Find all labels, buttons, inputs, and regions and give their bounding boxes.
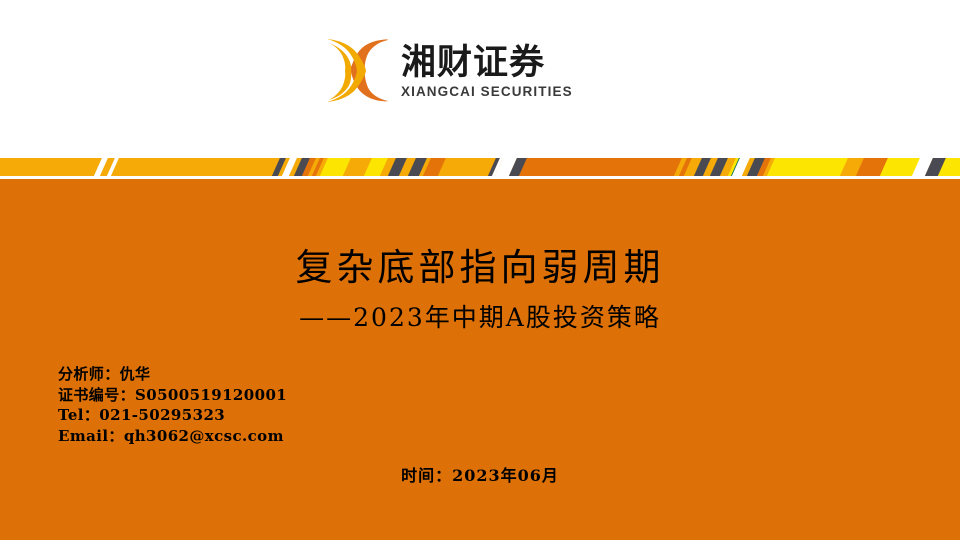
report-title: 复杂底部指向弱周期	[0, 237, 960, 291]
band-stripe	[107, 158, 283, 176]
analyst-telephone: Tel：021-50295323	[58, 405, 287, 426]
analyst-info-block: 分析师：仇华 证书编号：S0500519120001 Tel：021-50295…	[58, 364, 287, 446]
band-stripe	[0, 158, 105, 176]
header-area: 湘财证券 XIANGCAI SECURITIES	[0, 0, 960, 158]
company-name-cn: 湘财证券	[401, 45, 573, 82]
analyst-name: 分析师：仇华	[58, 364, 287, 385]
band-stripe	[514, 158, 685, 176]
analyst-email: Email：qh3062@xcsc.com	[58, 426, 287, 447]
report-subtitle: ——2023年中期A股投资策略	[0, 298, 960, 334]
company-name-en: XIANGCAI SECURITIES	[401, 84, 573, 99]
analyst-license-number: 证书编号：S0500519120001	[58, 385, 287, 406]
logo-wordmark: 湘财证券 XIANGCAI SECURITIES	[401, 43, 573, 100]
xiangcai-x-mark-icon	[327, 38, 389, 104]
stripe-container	[0, 158, 960, 176]
report-cover-slide: 湘财证券 XIANGCAI SECURITIES 复杂底部指向弱周期 ——202…	[0, 0, 960, 540]
decorative-stripe-band	[0, 158, 960, 176]
company-logo: 湘财证券 XIANGCAI SECURITIES	[327, 38, 573, 104]
report-date: 时间：2023年06月	[0, 462, 960, 486]
cover-body-panel: 复杂底部指向弱周期 ——2023年中期A股投资策略 分析师：仇华 证书编号：S0…	[0, 179, 960, 540]
band-stripe	[762, 158, 851, 176]
